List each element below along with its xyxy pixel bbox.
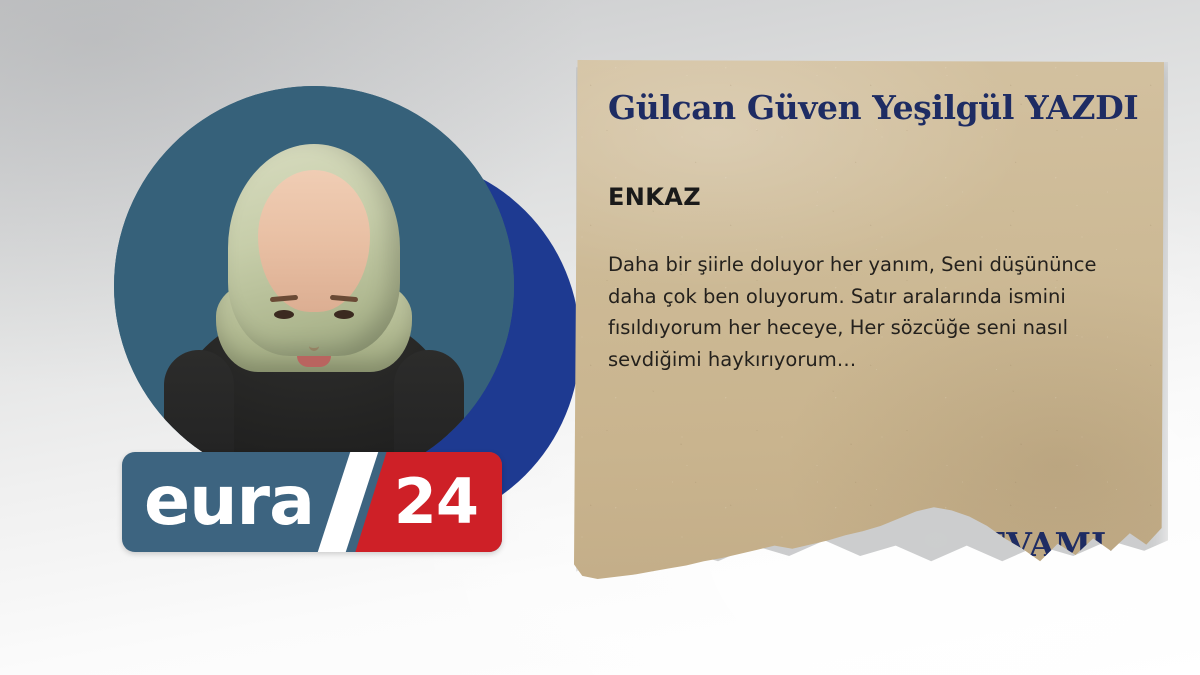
photo-eye-left [274, 310, 294, 319]
logo-wordmark: eura [144, 468, 314, 536]
eura24-logo[interactable]: eura 24 [122, 452, 502, 552]
author-byline: Gülcan Güven Yeşilgül YAZDI [608, 90, 1132, 127]
avatar [114, 86, 514, 486]
paper-surface: Gülcan Güven Yeşilgül YAZDI ENKAZ Daha b… [574, 60, 1164, 580]
photo-eyebrow-left [270, 295, 298, 302]
author-photo [114, 86, 514, 486]
page-title: ENKAZ [608, 183, 1132, 211]
article-excerpt: Daha bir şiirle doluyor her yanım, Seni … [608, 249, 1113, 375]
article-content: Gülcan Güven Yeşilgül YAZDI ENKAZ Daha b… [608, 90, 1132, 375]
photo-nose [309, 328, 319, 351]
photo-eyebrow-right [330, 295, 358, 302]
torn-paper-card: Gülcan Güven Yeşilgül YAZDI ENKAZ Daha b… [570, 56, 1168, 606]
photo-face [258, 170, 370, 312]
news-promo-card: eura 24 Gülcan Güven Yeşilgül YAZDI ENKA… [0, 0, 1200, 675]
photo-eye-right [334, 310, 354, 319]
logo-number: 24 [394, 471, 478, 533]
